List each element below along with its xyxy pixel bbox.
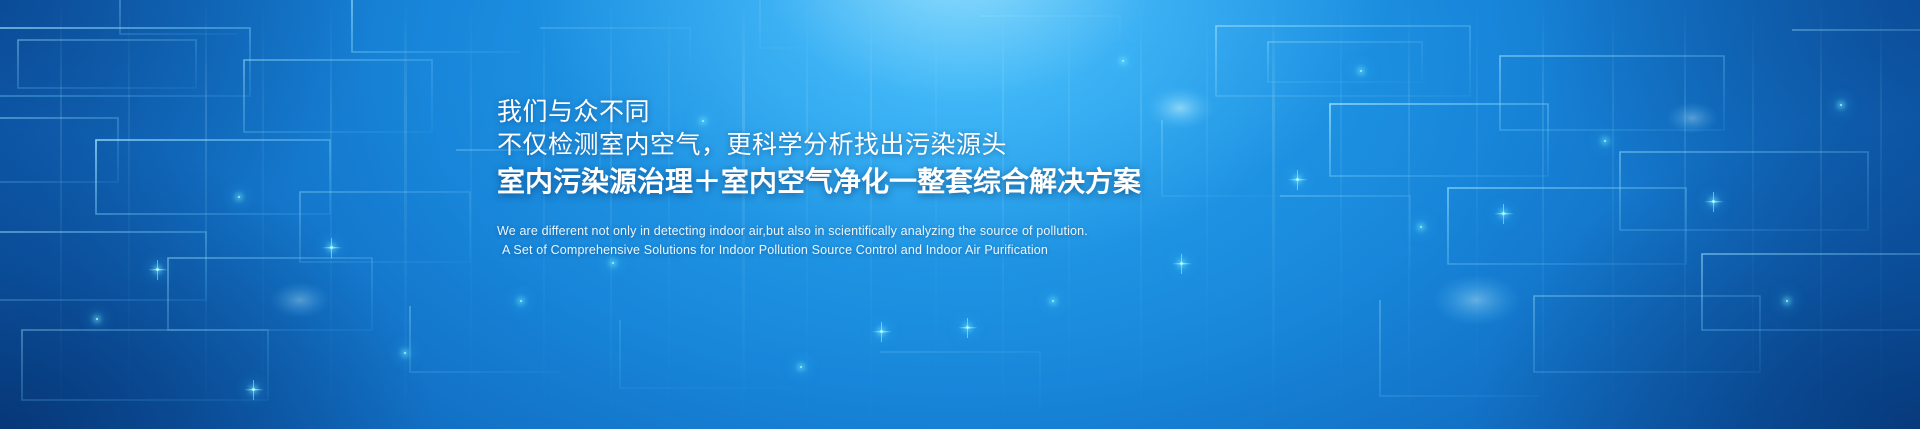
headline-line-1: 我们与众不同 bbox=[497, 96, 1497, 128]
banner-copy-block: 我们与众不同 不仅检测室内空气，更科学分析找出污染源头 室内污染源治理＋室内空气… bbox=[497, 96, 1497, 260]
subtitle-line-1: We are different not only in detecting i… bbox=[497, 222, 1497, 241]
headline-line-3-emphasis: 室内污染源治理＋室内空气净化一整套综合解决方案 bbox=[497, 162, 1497, 202]
hero-banner: 我们与众不同 不仅检测室内空气，更科学分析找出污染源头 室内污染源治理＋室内空气… bbox=[0, 0, 1920, 429]
headline-line-2: 不仅检测室内空气，更科学分析找出污染源头 bbox=[497, 128, 1497, 162]
subtitle-block: We are different not only in detecting i… bbox=[497, 222, 1497, 260]
subtitle-line-2: A Set of Comprehensive Solutions for Ind… bbox=[497, 241, 1497, 260]
